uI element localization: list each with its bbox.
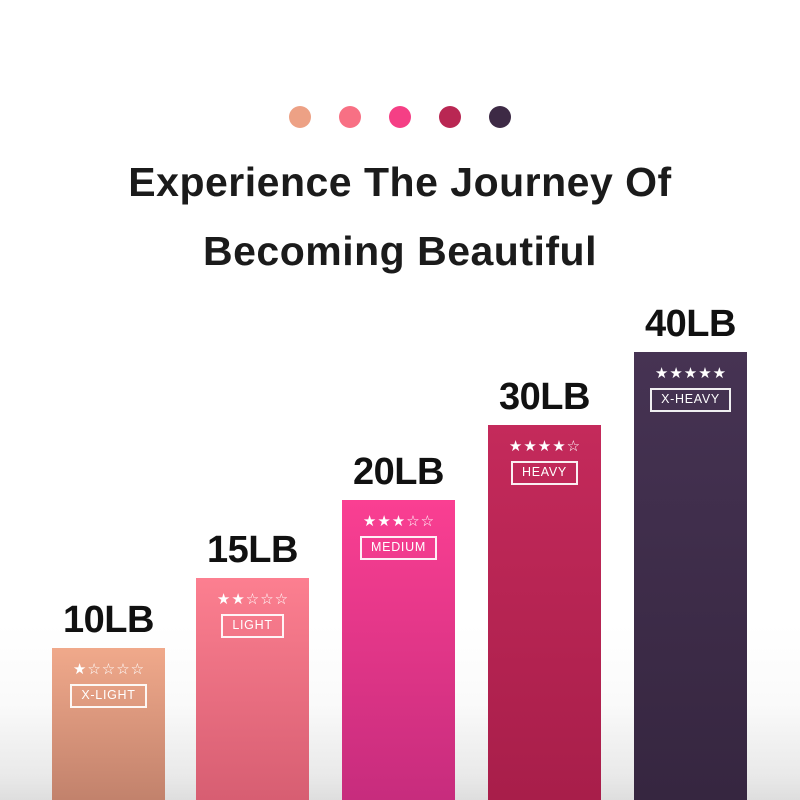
star-rating: ★★★☆☆ bbox=[363, 514, 434, 529]
star-filled-icon: ★ bbox=[698, 366, 711, 381]
star-empty-icon: ☆ bbox=[406, 514, 419, 529]
star-empty-icon: ☆ bbox=[87, 662, 100, 677]
star-filled-icon: ★ bbox=[684, 366, 697, 381]
bar-x-light: ★☆☆☆☆X-LIGHT bbox=[52, 648, 165, 800]
bar-value-label: 15LB bbox=[207, 529, 298, 578]
bar-heavy: ★★★★☆HEAVY bbox=[488, 425, 601, 800]
star-empty-icon: ☆ bbox=[275, 592, 288, 607]
star-empty-icon: ☆ bbox=[260, 592, 273, 607]
star-empty-icon: ☆ bbox=[567, 439, 580, 454]
star-filled-icon: ★ bbox=[523, 439, 536, 454]
star-empty-icon: ☆ bbox=[246, 592, 259, 607]
star-filled-icon: ★ bbox=[377, 514, 390, 529]
level-label: HEAVY bbox=[511, 461, 578, 485]
bar-badge: ★★★★☆HEAVY bbox=[488, 439, 601, 485]
bar-badge: ★★★☆☆MEDIUM bbox=[342, 514, 455, 560]
bar-group-heavy[interactable]: 30LB★★★★☆HEAVY bbox=[488, 425, 601, 800]
star-empty-icon: ☆ bbox=[102, 662, 115, 677]
bar-group-x-light[interactable]: 10LB★☆☆☆☆X-LIGHT bbox=[52, 648, 165, 800]
bar-value-label: 40LB bbox=[645, 303, 736, 352]
star-filled-icon: ★ bbox=[655, 366, 668, 381]
star-rating: ★★★★☆ bbox=[509, 439, 580, 454]
bar-value-label: 30LB bbox=[499, 376, 590, 425]
star-filled-icon: ★ bbox=[363, 514, 376, 529]
star-filled-icon: ★ bbox=[669, 366, 682, 381]
star-rating: ★☆☆☆☆ bbox=[73, 662, 144, 677]
bar-group-medium[interactable]: 20LB★★★☆☆MEDIUM bbox=[342, 500, 455, 800]
level-label: X-LIGHT bbox=[70, 684, 146, 708]
star-filled-icon: ★ bbox=[231, 592, 244, 607]
bar-group-light[interactable]: 15LB★★☆☆☆LIGHT bbox=[196, 578, 309, 800]
star-empty-icon: ☆ bbox=[421, 514, 434, 529]
star-filled-icon: ★ bbox=[552, 439, 565, 454]
bar-value-label: 20LB bbox=[353, 451, 444, 500]
bar-x-heavy: ★★★★★X-HEAVY bbox=[634, 352, 747, 800]
star-empty-icon: ☆ bbox=[116, 662, 129, 677]
bar-medium: ★★★☆☆MEDIUM bbox=[342, 500, 455, 800]
star-filled-icon: ★ bbox=[509, 439, 522, 454]
bar-badge: ★☆☆☆☆X-LIGHT bbox=[52, 662, 165, 708]
level-label: LIGHT bbox=[221, 614, 283, 638]
bar-group-x-heavy[interactable]: 40LB★★★★★X-HEAVY bbox=[634, 352, 747, 800]
star-rating: ★★★★★ bbox=[655, 366, 726, 381]
star-filled-icon: ★ bbox=[217, 592, 230, 607]
resistance-band-bar-chart: 10LB★☆☆☆☆X-LIGHT15LB★★☆☆☆LIGHT20LB★★★☆☆M… bbox=[0, 0, 800, 800]
level-label: MEDIUM bbox=[360, 536, 437, 560]
star-filled-icon: ★ bbox=[392, 514, 405, 529]
level-label: X-HEAVY bbox=[650, 388, 731, 412]
star-rating: ★★☆☆☆ bbox=[217, 592, 288, 607]
bar-light: ★★☆☆☆LIGHT bbox=[196, 578, 309, 800]
bar-badge: ★★★★★X-HEAVY bbox=[634, 366, 747, 412]
bar-badge: ★★☆☆☆LIGHT bbox=[196, 592, 309, 638]
star-filled-icon: ★ bbox=[73, 662, 86, 677]
star-filled-icon: ★ bbox=[713, 366, 726, 381]
star-filled-icon: ★ bbox=[538, 439, 551, 454]
bar-value-label: 10LB bbox=[63, 599, 154, 648]
star-empty-icon: ☆ bbox=[131, 662, 144, 677]
